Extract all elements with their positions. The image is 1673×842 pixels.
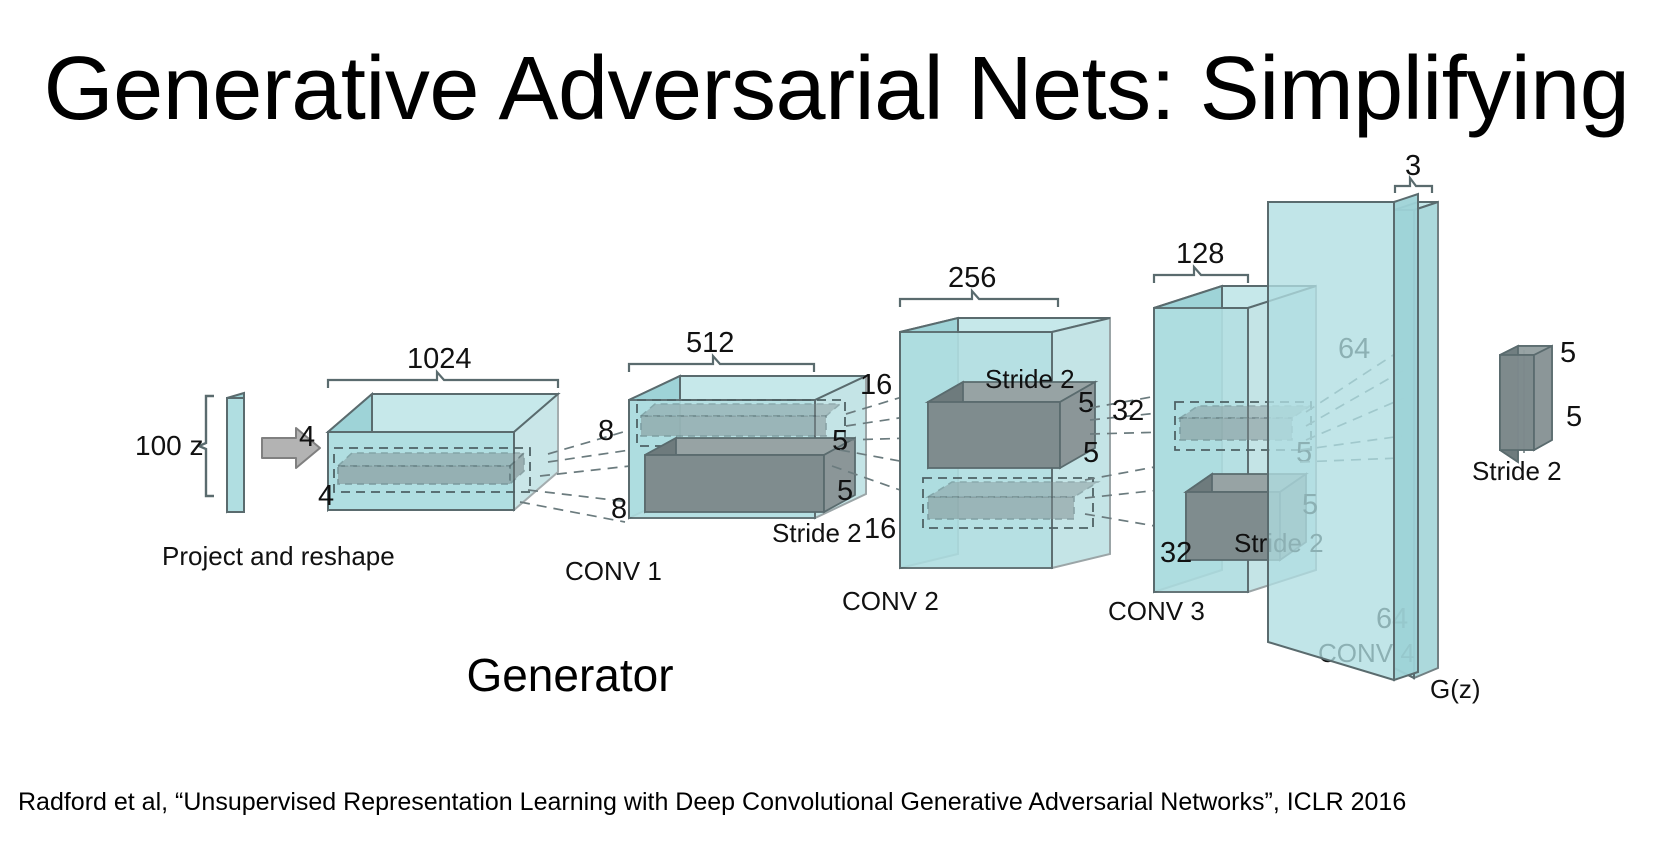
layer-width-8: 8 — [611, 493, 627, 525]
layer-channels-3: 3 — [1405, 150, 1421, 182]
output-image-plane-edge — [1394, 194, 1418, 680]
kernel-volume-512 — [645, 438, 855, 512]
kernel-dim-5-a-256: 5 — [1078, 387, 1094, 419]
layer-width-32: 32 — [1160, 537, 1192, 569]
layer-height-4: 4 — [299, 421, 315, 453]
kernel-dim-5-a-output: 5 — [1560, 337, 1576, 369]
output-image-plane — [1268, 202, 1394, 680]
kernel-dim-5-b-512: 5 — [837, 475, 853, 507]
layer-caption-conv1: CONV 1 — [565, 556, 662, 586]
architecture-figure: 100 z Project and reshape 1024 — [0, 150, 1673, 730]
layer-height-32: 32 — [1112, 395, 1144, 427]
kernel-dim-5-a-512: 5 — [832, 425, 848, 457]
layer-height-8: 8 — [598, 415, 614, 447]
layer-caption-conv3: CONV 3 — [1108, 596, 1205, 626]
layer-channels-512: 512 — [686, 327, 734, 359]
layer-channels-128: 128 — [1176, 238, 1224, 270]
generator-label: Generator — [440, 648, 700, 702]
layer-channels-256: 256 — [948, 262, 996, 294]
kernel-volume-output-top — [1500, 346, 1552, 462]
page-title: Generative Adversarial Nets: Simplifying — [0, 44, 1673, 134]
z-vector-bar — [227, 393, 244, 512]
layer-project-reshape: 1024 4 4 — [299, 343, 558, 512]
output-label-gz: G(z) — [1430, 674, 1481, 704]
kernel-volume-256 — [928, 382, 1095, 468]
kernel-dim-5-b-256: 5 — [1083, 437, 1099, 469]
layer-caption-conv2: CONV 2 — [842, 586, 939, 616]
layer-channels-1024: 1024 — [407, 343, 472, 375]
layer-conv1: 512 8 8 5 5 Stride 2 — [565, 327, 866, 586]
kernel-dim-5-b-output: 5 — [1566, 401, 1582, 433]
slide-root: Generative Adversarial Nets: Simplifying… — [0, 0, 1673, 842]
input-z-label: 100 z — [135, 430, 204, 461]
stride-label-conv2: Stride 2 — [985, 364, 1075, 394]
stride-label-conv1: Stride 2 — [772, 518, 862, 548]
citation-text: Radford et al, “Unsupervised Representat… — [18, 788, 1658, 817]
layer-width-16: 16 — [864, 513, 896, 545]
project-reshape-caption: Project and reshape — [162, 541, 395, 571]
layer-width-4: 4 — [318, 480, 334, 512]
layer-height-16: 16 — [860, 369, 892, 401]
